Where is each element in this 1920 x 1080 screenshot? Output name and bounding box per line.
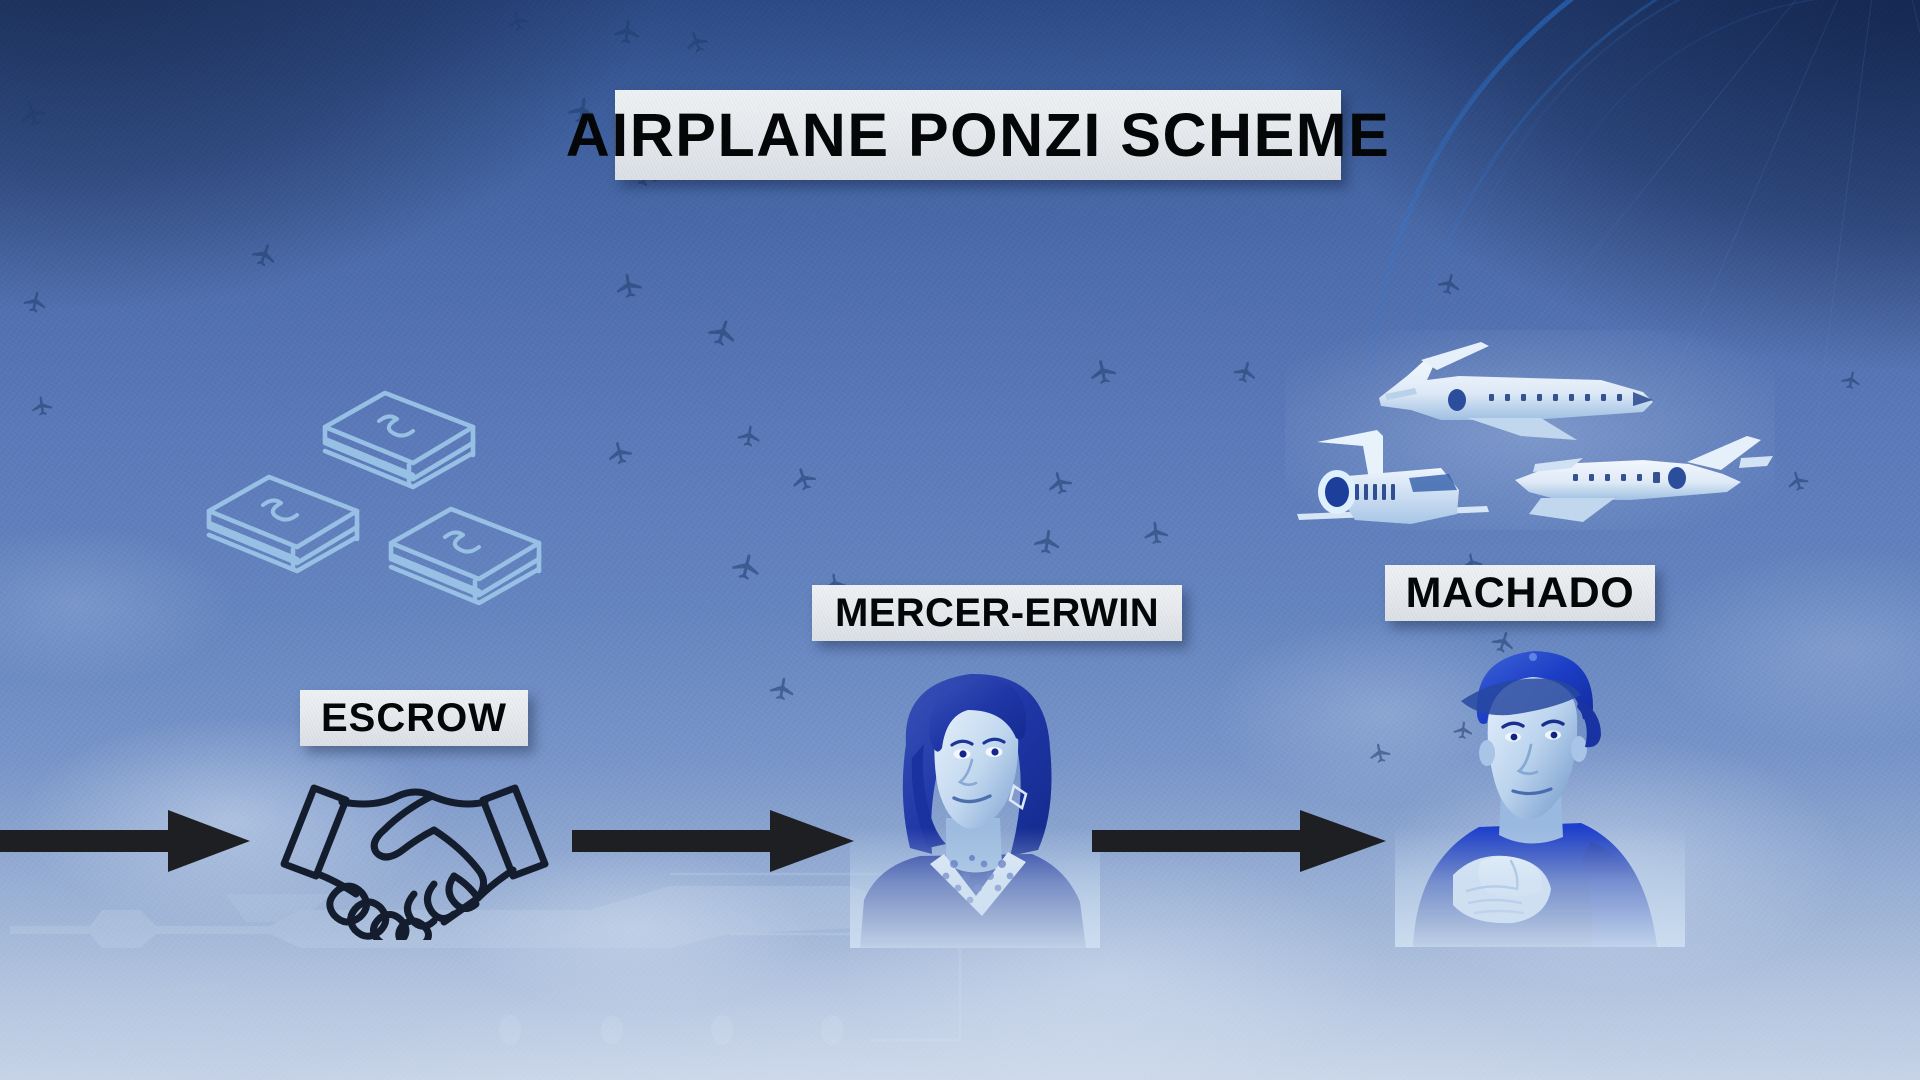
mini-airplane-icon	[20, 288, 51, 319]
mini-airplane-icon	[1030, 526, 1064, 560]
arrow-into-escrow	[0, 808, 252, 874]
mini-airplane-icon	[1043, 467, 1078, 502]
mini-airplane-icon	[1141, 519, 1172, 550]
arrow-mercer-erwin-to-machado	[1092, 808, 1388, 874]
handshake-icon	[272, 772, 557, 940]
mini-airplane-icon	[1229, 357, 1261, 389]
private-jets-photo	[1285, 330, 1775, 530]
mini-airplane-icon	[246, 238, 282, 274]
label-machado: MACHADO	[1385, 565, 1655, 621]
mini-airplane-icon	[727, 549, 766, 588]
mini-airplane-icon	[1085, 355, 1121, 391]
mini-airplane-icon	[611, 17, 644, 50]
mini-airplane-icon	[766, 674, 798, 706]
mini-airplane-icon	[28, 393, 55, 420]
mini-airplane-icon	[786, 462, 821, 497]
mini-airplane-icon	[1366, 740, 1394, 768]
mini-airplane-icon	[612, 270, 647, 305]
mini-airplane-icon	[503, 7, 532, 36]
mini-airplane-icon	[734, 422, 763, 451]
page-title: AIRPLANE PONZI SCHEME	[615, 90, 1341, 180]
money-stacks-icon	[205, 385, 550, 650]
mini-airplane-icon	[680, 26, 713, 59]
man-portrait-machado	[1395, 645, 1685, 947]
label-escrow: ESCROW	[300, 690, 528, 746]
mini-airplane-icon	[14, 96, 52, 134]
label-mercer-erwin: MERCER-ERWIN	[812, 585, 1182, 641]
mini-airplane-icon	[603, 437, 637, 471]
woman-portrait-mercer-erwin	[850, 648, 1100, 948]
arrow-escrow-to-mercer-erwin	[572, 808, 856, 874]
infographic-canvas: MACHADO MERCER-ERWIN ESCROW	[0, 0, 1920, 1080]
mini-airplane-icon	[1783, 467, 1813, 497]
mini-airplane-icon	[702, 314, 742, 354]
mini-airplane-icon	[1433, 269, 1465, 301]
mini-airplane-icon	[1838, 368, 1864, 394]
